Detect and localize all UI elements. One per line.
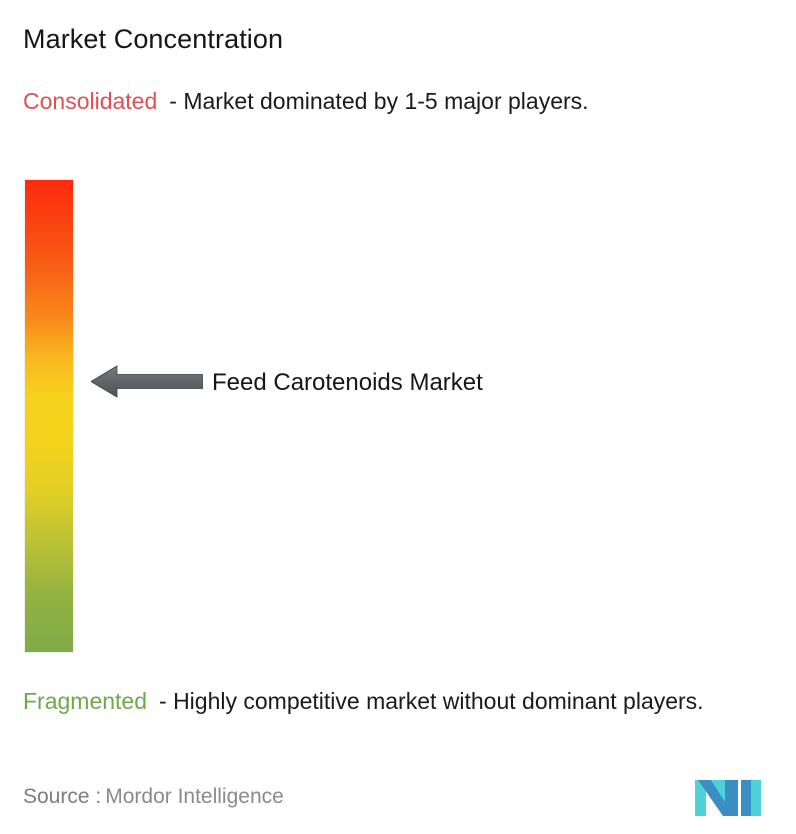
page-title: Market Concentration: [23, 22, 283, 56]
legend-fragmented-keyword: Fragmented: [23, 688, 147, 714]
source-label: Source :: [23, 785, 101, 808]
mordor-intelligence-logo-icon: [695, 766, 767, 816]
legend-consolidated-keyword: Consolidated: [23, 88, 157, 114]
legend-fragmented-description: - Highly competitive market without domi…: [159, 688, 704, 714]
market-position-arrow-icon: [91, 363, 203, 399]
legend-consolidated: Consolidated- Market dominated by 1-5 ma…: [23, 86, 783, 117]
legend-fragmented: Fragmented- Highly competitive market wi…: [23, 686, 789, 717]
source-attribution: Source :Mordor Intelligence: [23, 783, 284, 810]
source-name: Mordor Intelligence: [101, 785, 284, 808]
market-concentration-gradient-bar: [25, 180, 73, 652]
market-position-label: Feed Carotenoids Market: [212, 368, 483, 398]
legend-consolidated-description: - Market dominated by 1-5 major players.: [169, 88, 588, 114]
